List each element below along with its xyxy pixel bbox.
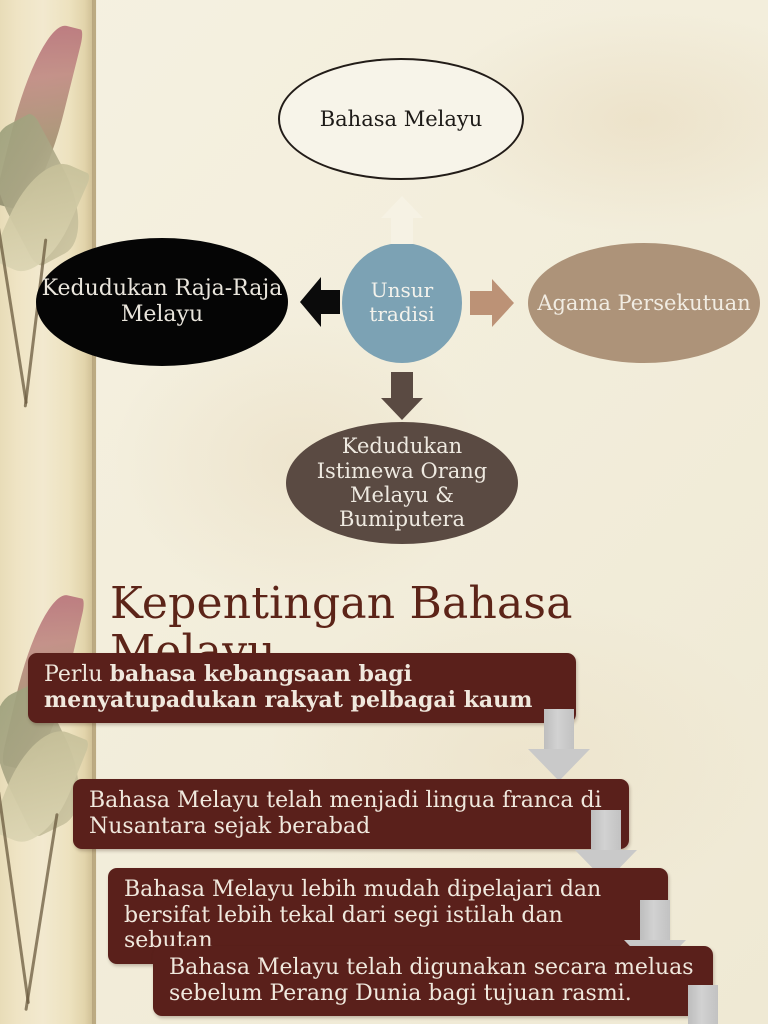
arrow-head [528, 749, 590, 781]
banner-item-2[interactable]: Bahasa Melayu telah menjadi lingua franc… [73, 779, 629, 849]
slide-canvas: Bahasa Melayu Kedudukan Raja-Raja Melayu… [0, 0, 768, 1024]
banner-item-1[interactable]: Perlu bahasa kebangsaan bagi menyatupadu… [28, 653, 576, 723]
banner-lead-text: Perlu [44, 662, 110, 687]
banner-stack: Perlu bahasa kebangsaan bagi menyatupadu… [0, 0, 768, 1024]
step-arrow-down-icon-1 [528, 709, 590, 781]
arrow-shaft [544, 709, 574, 751]
banner-item-4[interactable]: Bahasa Melayu telah digunakan secara mel… [153, 946, 713, 1016]
step-arrow-down-icon-4 [672, 985, 734, 1024]
banner-text: Bahasa Melayu telah menjadi lingua franc… [89, 788, 602, 839]
banner-text: Bahasa Melayu lebih mudah dipelajari dan… [124, 877, 601, 953]
arrow-shaft [640, 900, 670, 942]
arrow-shaft [688, 985, 718, 1024]
arrow-shaft [591, 810, 621, 852]
banner-bold-text: bahasa kebangsaan bagi menyatupadukan ra… [44, 661, 532, 713]
banner-text: Bahasa Melayu telah digunakan secara mel… [169, 955, 694, 1006]
